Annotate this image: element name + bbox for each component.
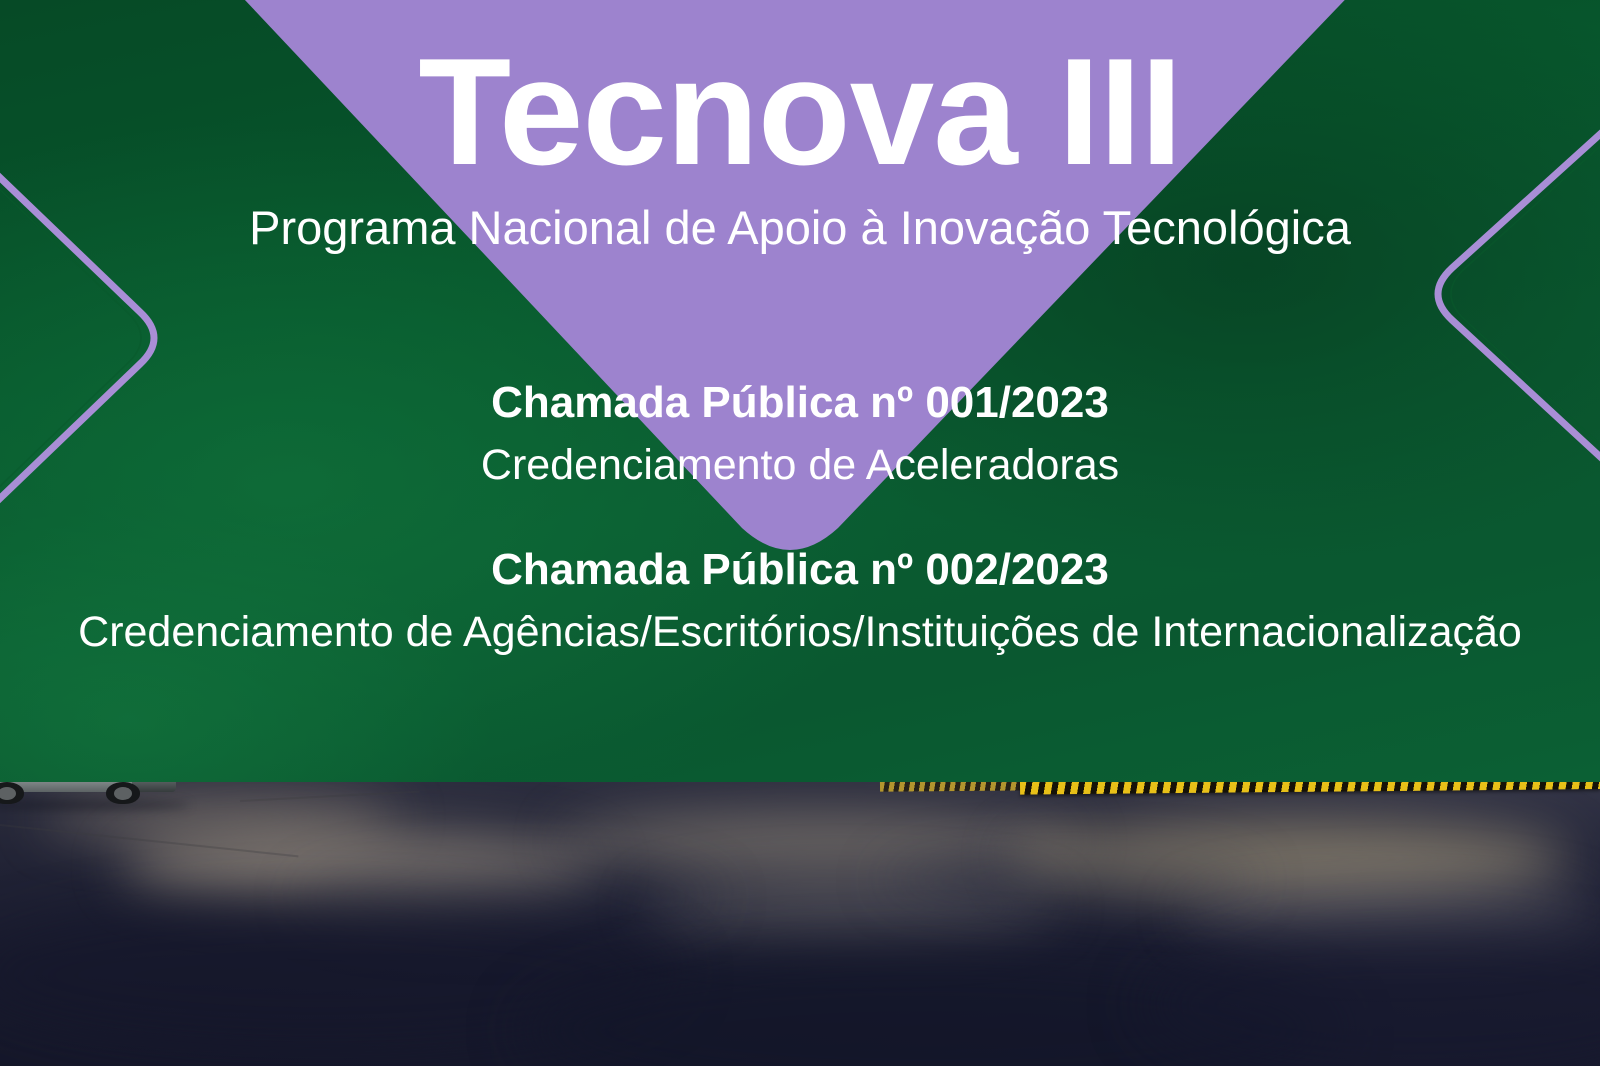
- poster-content: Tecnova III Programa Nacional de Apoio à…: [0, 0, 1600, 782]
- page-title: Tecnova III: [0, 36, 1600, 188]
- car-wheel-front: [106, 782, 140, 804]
- public-call-block-001: Chamada Pública nº 001/2023 Credenciamen…: [100, 378, 1500, 492]
- public-call-description: Credenciamento de Aceleradoras: [100, 439, 1500, 491]
- page-subtitle: Programa Nacional de Apoio à Inovação Te…: [200, 198, 1400, 258]
- public-call-block-002: Chamada Pública nº 002/2023 Credenciamen…: [60, 545, 1540, 659]
- public-call-heading: Chamada Pública nº 001/2023: [100, 378, 1500, 427]
- poster-canvas: Tecnova III Programa Nacional de Apoio à…: [0, 0, 1600, 1066]
- public-call-description: Credenciamento de Agências/Escritórios/I…: [60, 606, 1540, 658]
- public-call-heading: Chamada Pública nº 002/2023: [60, 545, 1540, 594]
